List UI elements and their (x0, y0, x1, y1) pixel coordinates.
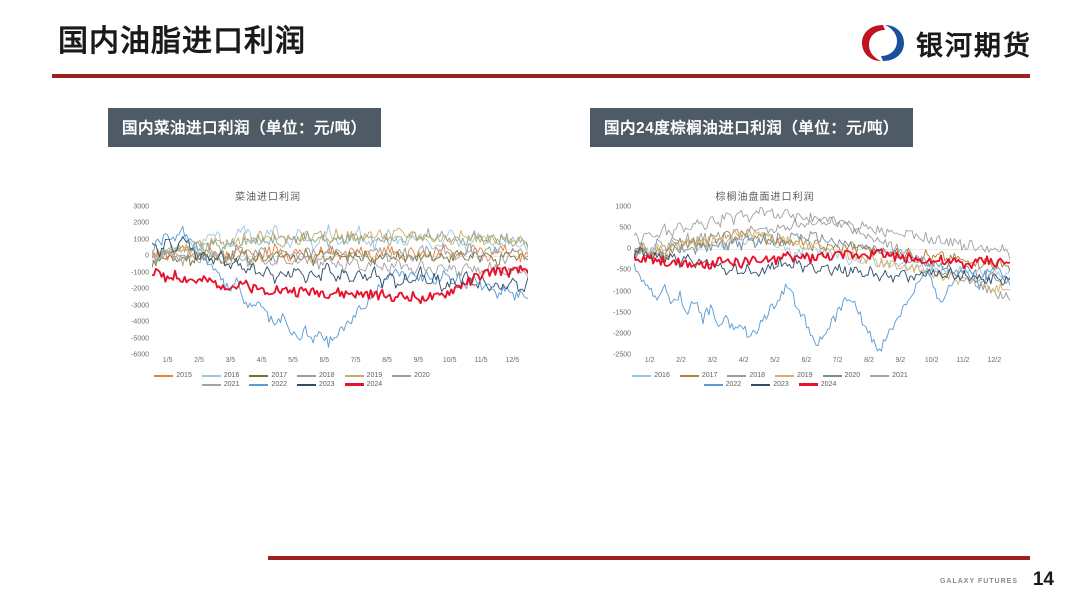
legend-item-2022[interactable]: 2022 (704, 381, 742, 388)
y-tick-label: -5000 (131, 335, 149, 342)
legend-label: 2017 (271, 372, 287, 379)
x-tick-label: 12/2 (988, 357, 1002, 364)
legend-item-2017[interactable]: 2017 (680, 372, 718, 379)
legend-label: 2017 (702, 372, 718, 379)
y-tick-label: -4000 (131, 319, 149, 326)
legend-label: 2016 (654, 372, 670, 379)
legend-label: 2021 (224, 381, 240, 388)
legend-swatch-icon (632, 375, 651, 377)
legend-swatch-icon (751, 384, 770, 386)
legend-swatch-icon (727, 375, 746, 377)
y-tick-label: 2000 (133, 220, 149, 227)
plot-area-left (152, 207, 528, 355)
y-tick-label: -1000 (613, 288, 631, 295)
legend-swatch-icon (249, 384, 268, 386)
y-tick-label: 0 (145, 253, 149, 260)
legend-swatch-icon (775, 375, 794, 377)
legend-item-2020[interactable]: 2020 (392, 372, 430, 379)
legend-label: 2023 (319, 381, 335, 388)
legend-label: 2016 (224, 372, 240, 379)
legend-swatch-icon (297, 375, 316, 377)
legend-swatch-icon (823, 375, 842, 377)
page-number: 14 (1033, 569, 1054, 591)
legend-swatch-icon (202, 384, 221, 386)
legend-item-2015[interactable]: 2015 (154, 372, 192, 379)
y-tick-label: -1500 (613, 309, 631, 316)
page-title: 国内油脂进口利润 (58, 22, 306, 62)
series-line-2020 (634, 232, 1010, 284)
slide: 国内油脂进口利润 银河期货 国内菜油进口利润（单位：元/吨） 菜油进口利润 30… (0, 0, 1080, 608)
y-tick-label: 1000 (133, 236, 149, 243)
legend-label: 2024 (821, 381, 837, 388)
chart-title-right: 棕榈油盘面进口利润 (590, 191, 1010, 205)
legend-swatch-icon (202, 375, 221, 377)
legend-item-2024[interactable]: 2024 (799, 381, 837, 388)
x-tick-label: 1/2 (645, 357, 655, 364)
x-tick-label: 9/5 (413, 357, 423, 364)
legend-label: 2018 (319, 372, 335, 379)
x-tick-label: 3/2 (707, 357, 717, 364)
x-tick-label: 7/5 (351, 357, 361, 364)
legend-label: 2020 (845, 372, 861, 379)
legend-left: 2015201620172018201920202021202220232024 (144, 372, 440, 388)
x-tick-label: 4/2 (739, 357, 749, 364)
legend-item-2018[interactable]: 2018 (727, 372, 765, 379)
x-tick-label: 2/5 (194, 357, 204, 364)
x-tick-label: 12/5 (506, 357, 520, 364)
legend-label: 2022 (726, 381, 742, 388)
x-tick-label: 1/5 (163, 357, 173, 364)
series-line-2021 (152, 251, 528, 277)
legend-item-2022[interactable]: 2022 (249, 381, 287, 388)
footer-brand: GALAXY FUTURES (940, 578, 1018, 585)
legend-swatch-icon (249, 375, 268, 377)
x-tick-label: 8/5 (382, 357, 392, 364)
legend-swatch-icon (345, 383, 364, 386)
legend-label: 2018 (749, 372, 765, 379)
legend-item-2023[interactable]: 2023 (297, 381, 335, 388)
legend-swatch-icon (392, 375, 411, 377)
x-tick-label: 5/5 (288, 357, 298, 364)
logo-text: 银河期货 (916, 24, 1032, 63)
title-divider (52, 74, 1030, 78)
x-tick-label: 2/2 (676, 357, 686, 364)
legend-item-2017[interactable]: 2017 (249, 372, 287, 379)
legend-item-2019[interactable]: 2019 (345, 372, 383, 379)
legend-swatch-icon (345, 375, 364, 377)
x-tick-label: 10/2 (925, 357, 939, 364)
x-tick-label: 6/5 (319, 357, 329, 364)
x-tick-label: 6/2 (801, 357, 811, 364)
legend-label: 2015 (176, 372, 192, 379)
y-tick-label: -1000 (131, 269, 149, 276)
footer-divider (268, 556, 1030, 560)
series-line-2019 (634, 229, 1010, 296)
x-axis-right: 1/22/23/24/25/26/27/28/29/210/211/212/2 (634, 355, 1010, 369)
x-axis-left: 1/52/53/54/55/56/57/58/59/510/511/512/5 (152, 355, 528, 369)
legend-label: 2021 (892, 372, 908, 379)
y-tick-label: -2000 (613, 330, 631, 337)
legend-item-2018[interactable]: 2018 (297, 372, 335, 379)
legend-swatch-icon (680, 375, 699, 377)
y-tick-label: -3000 (131, 302, 149, 309)
panel-header-left: 国内菜油进口利润（单位：元/吨） (108, 108, 381, 147)
y-tick-label: -2500 (613, 352, 631, 359)
x-tick-label: 9/2 (895, 357, 905, 364)
y-tick-label: -6000 (131, 352, 149, 359)
panel-rapeseed-oil: 国内菜油进口利润（单位：元/吨） 菜油进口利润 3000200010000-10… (108, 108, 528, 431)
legend-label: 2020 (414, 372, 430, 379)
legend-label: 2023 (773, 381, 789, 388)
legend-label: 2019 (367, 372, 383, 379)
x-tick-label: 11/2 (956, 357, 969, 364)
y-tick-label: 500 (619, 225, 631, 232)
y-axis-right: 10005000-500-1000-1500-2000-2500 (590, 207, 634, 355)
legend-item-2024[interactable]: 2024 (345, 381, 383, 388)
x-tick-label: 3/5 (225, 357, 235, 364)
legend-label: 2019 (797, 372, 813, 379)
legend-swatch-icon (704, 384, 723, 386)
y-tick-label: -500 (617, 267, 631, 274)
legend-right: 201620172018201920202021202220232024 (620, 372, 920, 388)
x-tick-label: 11/5 (474, 357, 487, 364)
plot-area-right (634, 207, 1010, 355)
y-tick-label: 3000 (133, 204, 149, 211)
legend-item-2021[interactable]: 2021 (202, 381, 240, 388)
x-tick-label: 8/2 (864, 357, 874, 364)
y-tick-label: -2000 (131, 286, 149, 293)
series-line-2021 (634, 207, 1010, 260)
legend-swatch-icon (154, 375, 173, 377)
legend-item-2021[interactable]: 2021 (870, 372, 908, 379)
y-tick-label: 1000 (615, 204, 631, 211)
legend-item-2023[interactable]: 2023 (751, 381, 789, 388)
chart-title-left: 菜油进口利润 (108, 191, 528, 205)
x-tick-label: 7/2 (833, 357, 843, 364)
brand-logo: 银河期货 (860, 22, 1032, 64)
x-tick-label: 5/2 (770, 357, 780, 364)
legend-label: 2022 (271, 381, 287, 388)
legend-item-2020[interactable]: 2020 (823, 372, 861, 379)
legend-label: 2024 (367, 381, 383, 388)
legend-swatch-icon (799, 383, 818, 386)
y-axis-left: 3000200010000-1000-2000-3000-4000-5000-6… (108, 207, 152, 355)
panel-header-right: 国内24度棕榈油进口利润（单位：元/吨） (590, 108, 913, 147)
legend-item-2016[interactable]: 2016 (202, 372, 240, 379)
legend-swatch-icon (870, 375, 889, 377)
x-tick-label: 4/5 (257, 357, 267, 364)
chart-rapeseed-oil: 菜油进口利润 3000200010000-1000-2000-3000-4000… (108, 191, 528, 431)
legend-item-2019[interactable]: 2019 (775, 372, 813, 379)
panel-palm-oil: 国内24度棕榈油进口利润（单位：元/吨） 棕榈油盘面进口利润 10005000-… (590, 108, 1010, 431)
chart-palm-oil: 棕榈油盘面进口利润 10005000-500-1000-1500-2000-25… (590, 191, 1010, 431)
legend-item-2016[interactable]: 2016 (632, 372, 670, 379)
y-tick-label: 0 (627, 246, 631, 253)
legend-swatch-icon (297, 384, 316, 386)
galaxy-swirl-logo-icon (860, 22, 906, 64)
x-tick-label: 10/5 (443, 357, 457, 364)
